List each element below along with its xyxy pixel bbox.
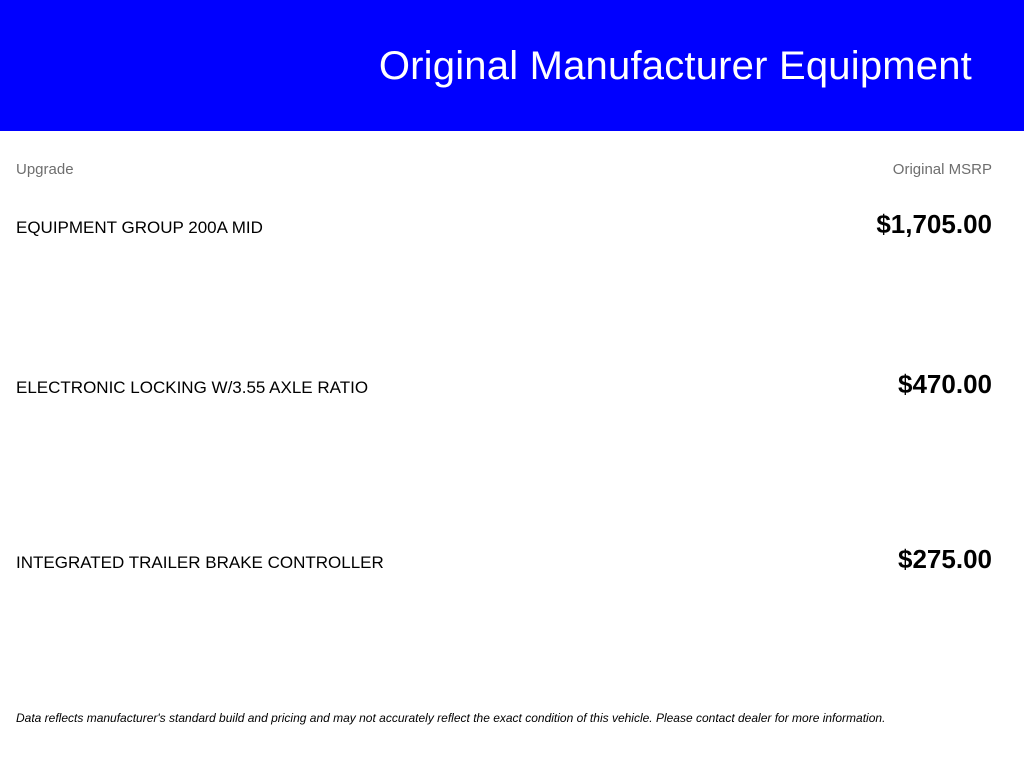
page-title: Original Manufacturer Equipment xyxy=(379,44,972,88)
equipment-page: Original Manufacturer Equipment Upgrade … xyxy=(0,0,1024,768)
table-row: EQUIPMENT GROUP 200A MID $1,705.00 xyxy=(16,209,992,369)
equipment-name: ELECTRONIC LOCKING W/3.55 AXLE RATIO xyxy=(16,378,368,398)
equipment-name: EQUIPMENT GROUP 200A MID xyxy=(16,218,263,238)
equipment-table: Upgrade Original MSRP EQUIPMENT GROUP 20… xyxy=(0,131,1024,719)
column-header-upgrade: Upgrade xyxy=(16,161,74,179)
table-row: ELECTRONIC LOCKING W/3.55 AXLE RATIO $47… xyxy=(16,369,992,544)
column-header-original-msrp: Original MSRP xyxy=(893,161,992,179)
equipment-price: $1,705.00 xyxy=(876,209,992,240)
equipment-price: $275.00 xyxy=(898,544,992,575)
page-header-banner: Original Manufacturer Equipment xyxy=(0,0,1024,131)
table-header-row: Upgrade Original MSRP xyxy=(16,131,992,209)
equipment-name: INTEGRATED TRAILER BRAKE CONTROLLER xyxy=(16,553,384,573)
disclaimer-text: Data reflects manufacturer's standard bu… xyxy=(16,711,1008,727)
table-body: EQUIPMENT GROUP 200A MID $1,705.00 ELECT… xyxy=(16,209,992,719)
table-row: INTEGRATED TRAILER BRAKE CONTROLLER $275… xyxy=(16,544,992,719)
equipment-price: $470.00 xyxy=(898,369,992,400)
